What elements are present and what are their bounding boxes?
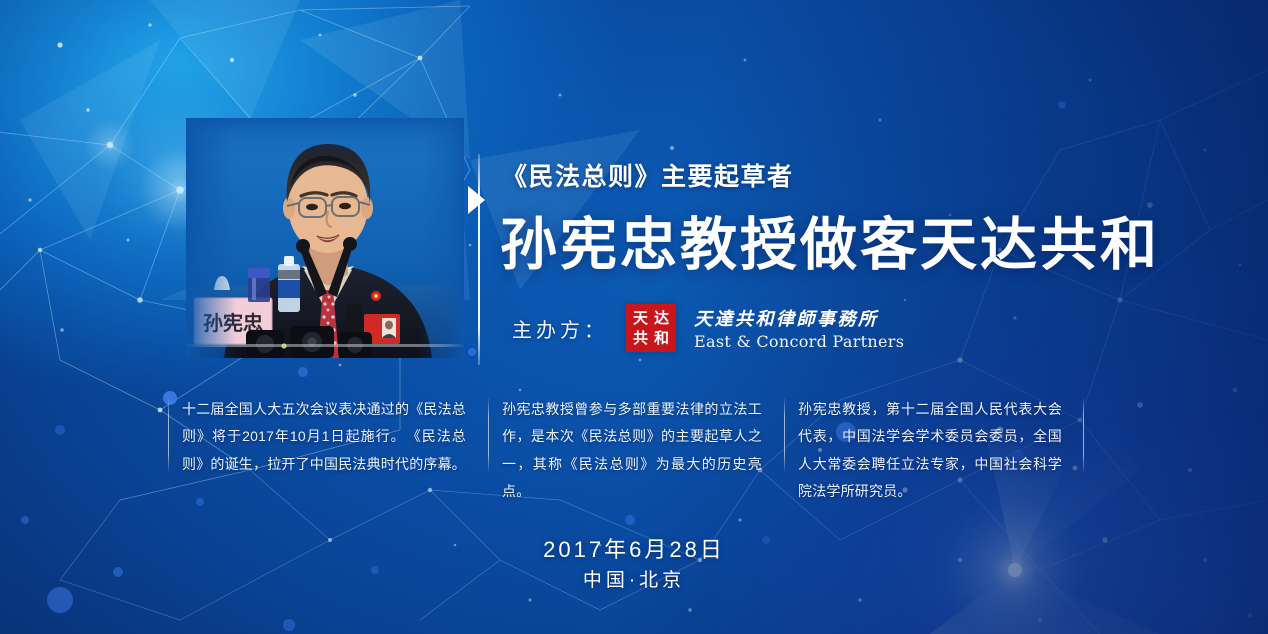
info-columns: 十二届全国人大五次会议表决通过的《民法总则》将于2017年10月1日起施行。 《… bbox=[168, 396, 1084, 476]
event-date: 2017年6月28日 bbox=[0, 534, 1268, 566]
seal-char-3: 共 bbox=[631, 329, 650, 347]
firm-seal-icon: 天 达 共 和 bbox=[626, 304, 676, 352]
seal-char-1: 天 bbox=[631, 309, 650, 327]
speaker-photo: 孙宪忠 bbox=[186, 118, 464, 358]
page-title: 孙宪忠教授做客天达共和 bbox=[500, 215, 1160, 275]
arrow-right-icon bbox=[468, 186, 485, 214]
info-column-3-text: 孙宪忠教授，第十二届全国人民代表大会代表，中国法学会学术委员会委员，全国人大常委… bbox=[798, 396, 1062, 505]
column-divider-mid-1 bbox=[488, 398, 489, 472]
info-column-2: 孙宪忠教授曾参与多部重要法律的立法工作，是本次《民法总则》的主要起草人之一，其称… bbox=[488, 396, 784, 476]
kicker-text: 《民法总则》主要起草者 bbox=[502, 157, 794, 193]
info-column-1: 十二届全国人大五次会议表决通过的《民法总则》将于2017年10月1日起施行。 《… bbox=[168, 396, 488, 476]
info-column-1-text: 十二届全国人大五次会议表决通过的《民法总则》将于2017年10月1日起施行。 《… bbox=[182, 396, 466, 478]
column-divider-right bbox=[1083, 398, 1084, 472]
firm-name-cn: 天達共和律師事務所 bbox=[694, 305, 904, 331]
sponsor-label: 主办方： bbox=[512, 314, 608, 343]
seal-char-2: 达 bbox=[652, 309, 671, 327]
sponsor-row: 主办方： 天 达 共 和 天達共和律師事務所 East & Concord Pa… bbox=[512, 304, 904, 352]
column-divider-mid-2 bbox=[784, 398, 785, 472]
event-location: 中国·北京 bbox=[0, 566, 1268, 596]
event-footer: 2017年6月28日 中国·北京 bbox=[0, 534, 1268, 596]
event-banner: 孙宪忠 bbox=[0, 0, 1268, 634]
info-column-2-text: 孙宪忠教授曾参与多部重要法律的立法工作，是本次《民法总则》的主要起草人之一，其称… bbox=[502, 396, 762, 505]
info-column-3: 孙宪忠教授，第十二届全国人民代表大会代表，中国法学会学术委员会委员，全国人大常委… bbox=[784, 396, 1084, 476]
firm-name-block: 天達共和律師事務所 East & Concord Partners bbox=[694, 305, 904, 351]
column-divider-left bbox=[168, 398, 169, 472]
seal-char-4: 和 bbox=[652, 329, 671, 347]
firm-name-en: East & Concord Partners bbox=[694, 332, 904, 351]
